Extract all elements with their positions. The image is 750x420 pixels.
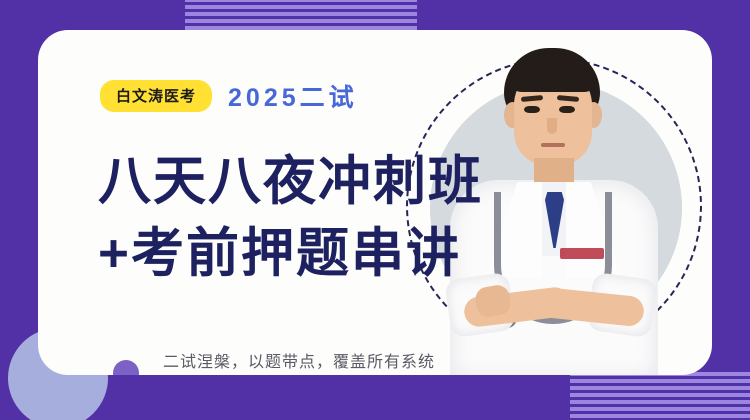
top-stripe-decoration — [185, 0, 417, 33]
badge-row: 白文涛医考 2025二试 — [100, 78, 358, 114]
subtitle-text: 二试涅槃，以题带点，覆盖所有系统 — [163, 348, 435, 372]
coat-chest-logo — [560, 248, 604, 259]
mouth — [541, 143, 565, 147]
year-label: 2025二试 — [228, 78, 358, 114]
headline-line-1: 八天八夜冲刺班 — [98, 155, 483, 208]
text-column: 白文涛医考 2025二试 八天八夜冲刺班 +考前押题串讲 二试涅槃，以题带点，覆… — [38, 30, 508, 375]
content-card: 白文涛医考 2025二试 八天八夜冲刺班 +考前押题串讲 二试涅槃，以题带点，覆… — [38, 30, 712, 375]
hair-fringe — [510, 58, 596, 92]
headline-line-2: +考前押题串讲 — [98, 227, 461, 280]
brand-badge: 白文涛医考 — [100, 80, 212, 112]
bottom-stripe-decoration — [570, 372, 750, 420]
promo-banner: 白文涛医考 2025二试 八天八夜冲刺班 +考前押题串讲 二试涅槃，以题带点，覆… — [0, 0, 750, 420]
eye-left — [524, 106, 540, 113]
nose — [547, 118, 557, 134]
eye-right — [559, 106, 575, 113]
